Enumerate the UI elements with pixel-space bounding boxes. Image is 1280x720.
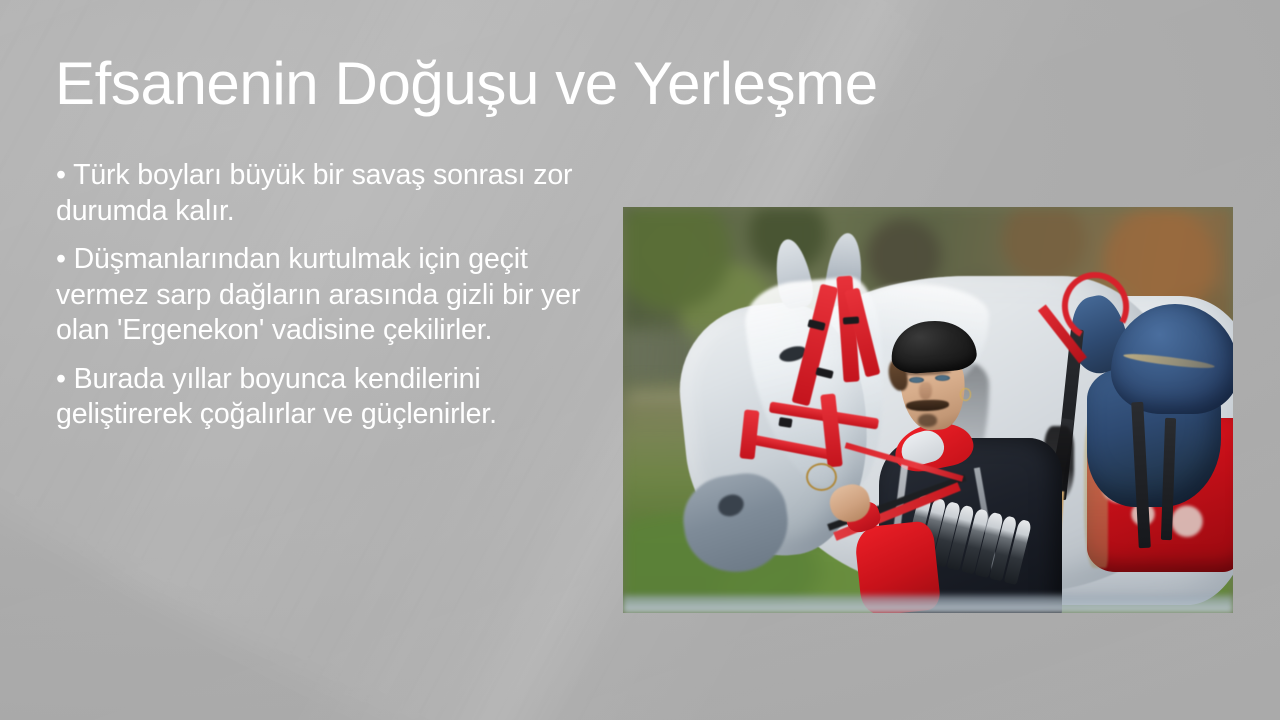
presentation-slide: Efsanenin Doğuşu ve Yerleşme • Türk boyl…: [0, 0, 1280, 720]
bridle-fitting: [842, 316, 858, 324]
slide-title: Efsanenin Doğuşu ve Yerleşme: [55, 48, 1115, 120]
rider-chin-beard: [918, 414, 938, 427]
slide-image: [623, 207, 1233, 613]
slide-body-text: • Türk boyları büyük bir savaş sonrası z…: [56, 158, 601, 433]
bullet-item: • Düşmanlarından kurtulmak için geçit ve…: [56, 242, 601, 349]
photo-content: [623, 207, 1233, 613]
bullet-item: • Türk boyları büyük bir savaş sonrası z…: [56, 158, 601, 229]
bullet-item: • Burada yıllar boyunca kendilerini geli…: [56, 362, 601, 433]
photo-bottom-strip: [623, 595, 1233, 613]
rider-nose: [919, 382, 931, 401]
